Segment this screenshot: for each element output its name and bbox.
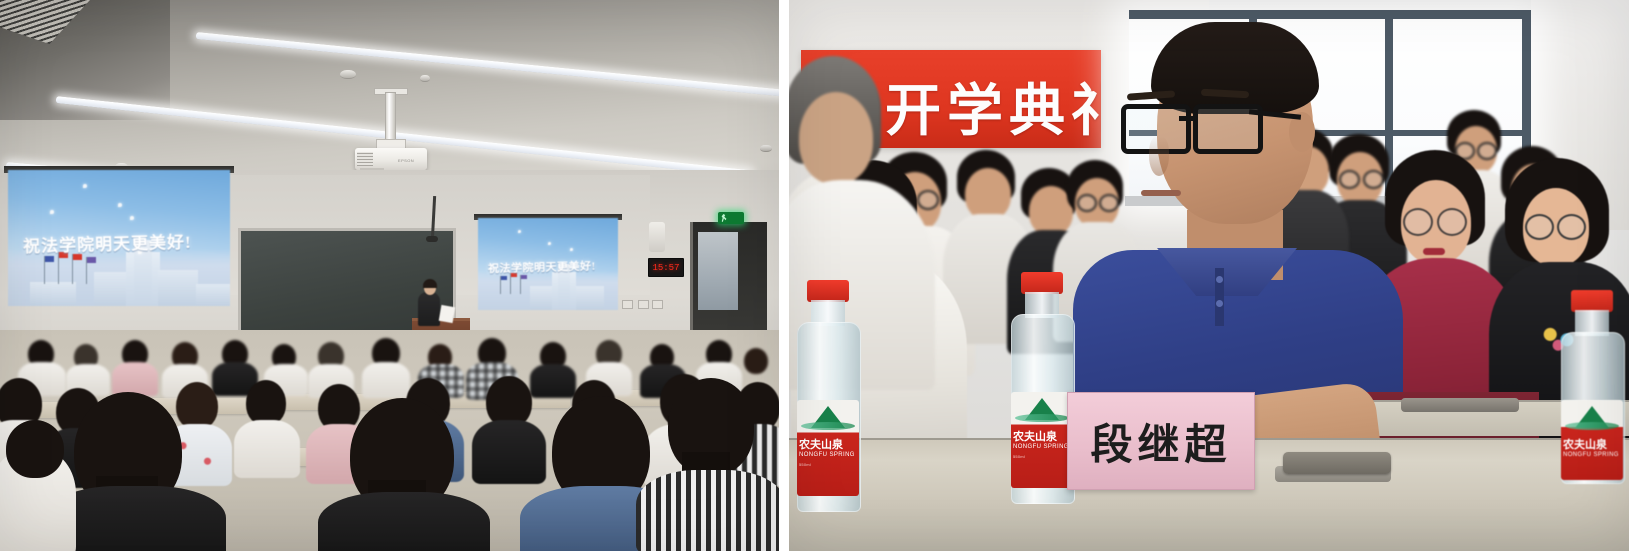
- slide-building: [576, 286, 604, 310]
- audience-body: [530, 364, 576, 398]
- photo-gutter-divider: [779, 0, 789, 551]
- polo-button: [1216, 276, 1223, 283]
- slide-flag: [500, 276, 501, 294]
- right-photo-ceremony: 生开学典礼: [789, 0, 1629, 551]
- wall-outlet: [622, 300, 633, 309]
- presenter-notes: [439, 305, 456, 323]
- audience-body: [234, 420, 300, 478]
- microphone-head: [426, 236, 438, 242]
- audience-head: [176, 382, 218, 430]
- bottle-label: 农夫山泉 NONGFU SPRING 550ml: [797, 400, 859, 496]
- slide-building: [158, 270, 198, 306]
- mobile-phone: [1401, 398, 1519, 412]
- slide-flag: [72, 254, 73, 284]
- water-wave-icon: [1015, 414, 1069, 422]
- clock-reading: 15:57: [652, 263, 679, 273]
- bottle-cap: [807, 280, 849, 302]
- eyeglasses-bridge: [1179, 116, 1197, 121]
- slide-flag: [44, 256, 45, 284]
- bottle-volume: 550ml: [799, 462, 857, 467]
- slide-building: [94, 272, 126, 306]
- audience-body: [112, 362, 158, 396]
- presenter-body: [418, 292, 440, 326]
- slide-building: [530, 286, 552, 310]
- smoke-detector-icon: [340, 70, 356, 79]
- slide-dove-icon: [130, 216, 134, 220]
- projector-vent: [357, 152, 373, 166]
- bottle-brand-cn: 农夫山泉: [1563, 436, 1621, 452]
- audience-body: [362, 362, 410, 398]
- slide-headline-text: 祝法学院明天更美好!: [488, 258, 596, 277]
- bottle-brand-cn: 农夫山泉: [1013, 428, 1071, 444]
- audience-head: [744, 348, 768, 374]
- bottle-brand-cn: 农夫山泉: [799, 436, 857, 452]
- bottle-brand-en: NONGFU SPRING: [1563, 452, 1621, 458]
- bottle-brand-en: NONGFU SPRING: [1013, 444, 1071, 450]
- hair: [1151, 22, 1319, 114]
- slide-dove-icon: [50, 210, 54, 214]
- projector-mount-pole: [385, 92, 396, 146]
- foreground-body: [318, 492, 490, 551]
- foreground-body: [636, 470, 779, 551]
- running-man-icon: [721, 214, 727, 222]
- name-placard: 段继超: [1067, 392, 1255, 490]
- name-placard-text: 段继超: [1090, 411, 1231, 472]
- wall-speaker: [649, 222, 665, 252]
- audience-body: [472, 420, 546, 484]
- bottle-label: 农夫山泉 NONGFU SPRING 550ml: [1011, 392, 1073, 488]
- slide-flag: [510, 273, 511, 294]
- slide-flag: [520, 275, 521, 294]
- slide-cityscape: [8, 249, 230, 306]
- projection-screen-secondary: 祝法学院明天更美好!: [478, 218, 618, 310]
- foreground-head: [6, 420, 64, 478]
- left-photo-lecture-hall: EPSON 祝法学院明天更美好!: [0, 0, 779, 551]
- bottle-cap: [1571, 290, 1613, 312]
- wall-outlet: [638, 300, 649, 309]
- slide-building: [196, 284, 230, 306]
- projection-screen-primary: 祝法学院明天更美好!: [8, 170, 230, 306]
- presenter-hair: [423, 279, 437, 288]
- photo-composite: EPSON 祝法学院明天更美好!: [0, 0, 1629, 551]
- slide-dove-icon: [548, 242, 551, 245]
- smoke-detector-icon: [760, 145, 772, 152]
- window-frame-top: [1129, 10, 1529, 19]
- polo-button: [1216, 300, 1223, 307]
- slide-flag: [86, 257, 87, 284]
- slide-headline-text: 祝法学院明天更美好!: [23, 228, 192, 257]
- slide-dove-icon: [83, 184, 87, 188]
- wall-outlet: [652, 300, 663, 309]
- bottle-brand-en: NONGFU SPRING: [799, 452, 857, 458]
- bottle-label: 农夫山泉 NONGFU SPRING: [1561, 400, 1623, 480]
- bottle-cap: [1021, 272, 1063, 294]
- slide-dove-icon: [518, 230, 521, 233]
- bottle-volume: 550ml: [1013, 454, 1071, 459]
- mobile-phone: [1283, 452, 1391, 474]
- water-wave-icon: [801, 422, 855, 430]
- smoke-detector-icon: [420, 75, 430, 82]
- nose: [1149, 136, 1169, 176]
- slide-building: [30, 282, 76, 306]
- slide-cityscape: [478, 271, 618, 310]
- digital-wall-clock: 15:57: [648, 258, 684, 277]
- water-wave-icon: [1565, 422, 1619, 430]
- projector-brand-label: EPSON: [398, 158, 414, 163]
- door-glass-panel: [698, 232, 738, 310]
- slide-dove-icon: [118, 203, 122, 207]
- mouth: [1141, 190, 1181, 196]
- slide-flag: [58, 252, 59, 284]
- exit-sign: [718, 212, 744, 224]
- slide-dove-icon: [570, 248, 573, 251]
